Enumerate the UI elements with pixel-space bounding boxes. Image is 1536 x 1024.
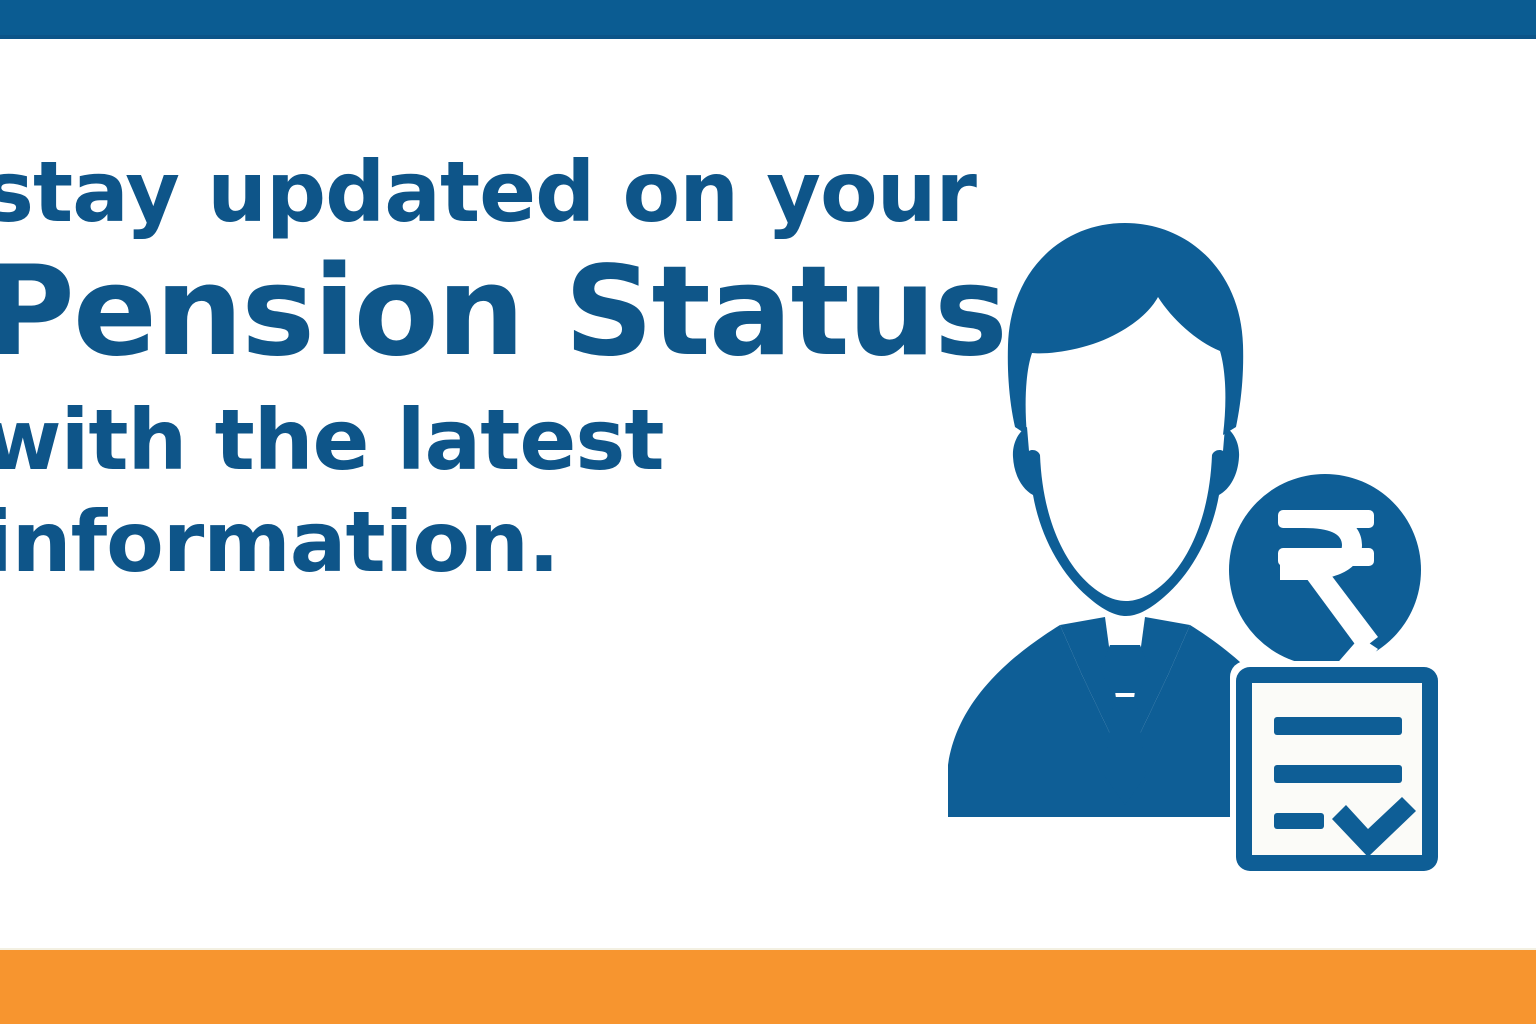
document-line-2: [1274, 765, 1402, 783]
document-checklist-icon: [1230, 661, 1444, 877]
illustration-svg: [900, 205, 1460, 885]
headline-line-4: information.: [0, 500, 984, 584]
pension-status-illustration: [900, 205, 1460, 885]
top-accent-bar-edge: [0, 35, 1536, 39]
document-line-1: [1274, 717, 1402, 735]
document-line-3: [1274, 813, 1324, 829]
pension-status-banner: stay updated on your Pension Status with…: [0, 0, 1536, 1024]
headline-line-2: Pension Status: [0, 250, 984, 374]
headline-text-block: stay updated on your Pension Status with…: [0, 150, 984, 584]
headline-line-1: stay updated on your: [0, 150, 984, 234]
top-accent-bar: [0, 0, 1536, 38]
headline-line-3: with the latest: [0, 398, 984, 482]
bottom-accent-bar: [0, 950, 1536, 1024]
